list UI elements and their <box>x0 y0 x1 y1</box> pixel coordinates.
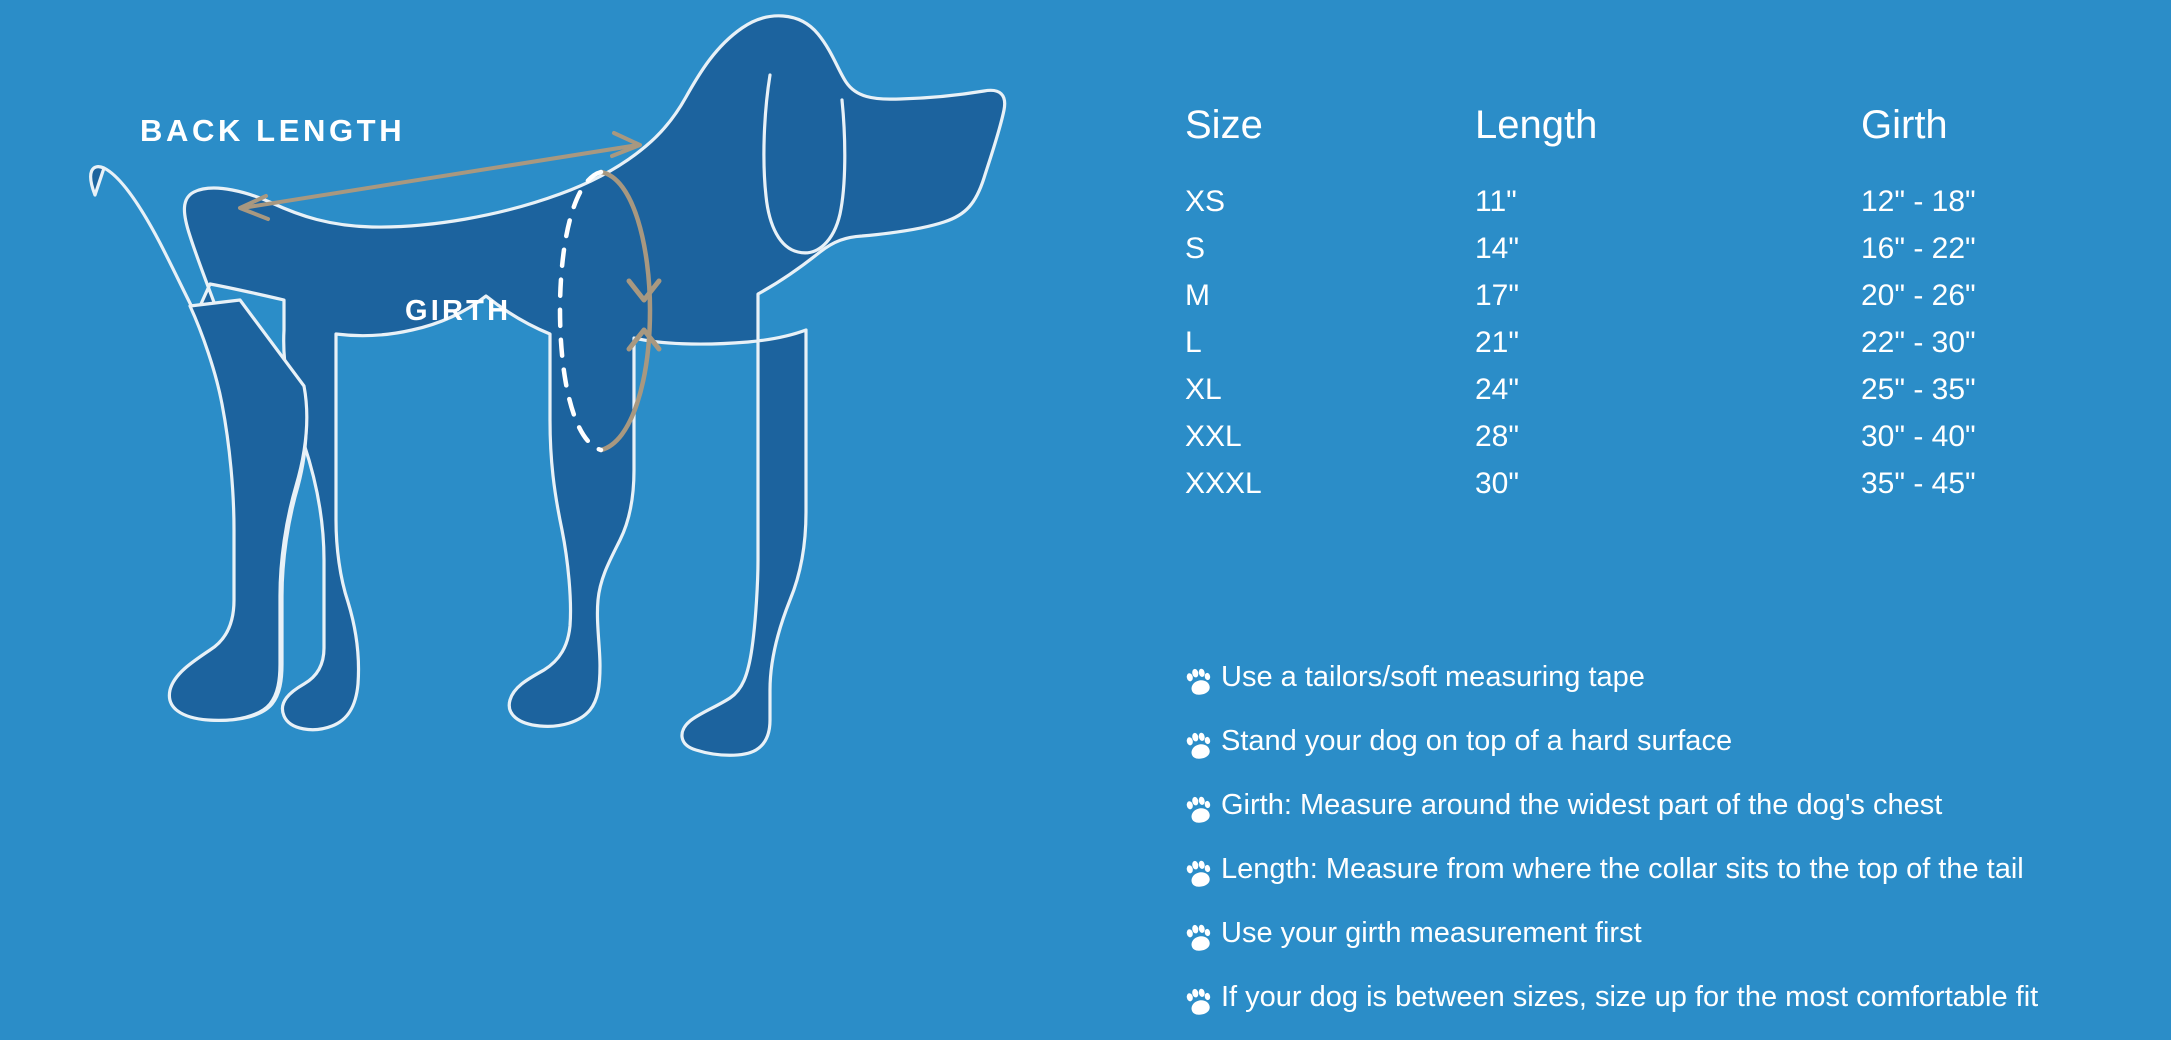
dog-silhouette-icon <box>0 0 1100 1040</box>
paw-print-icon <box>1185 732 1213 762</box>
cell-girth: 20" - 26" <box>1861 281 2121 328</box>
paw-print-icon <box>1185 924 1213 954</box>
column-header-length: Length <box>1475 105 1861 145</box>
list-item: Girth: Measure around the widest part of… <box>1185 788 2165 852</box>
tip-text: Length: Measure from where the collar si… <box>1221 852 2024 886</box>
column-header-girth: Girth <box>1861 105 2121 145</box>
paw-print-icon <box>1185 668 1213 698</box>
cell-girth: 25" - 35" <box>1861 375 2121 422</box>
table-row: XS 11" 12" - 18" <box>1185 187 2125 234</box>
cell-length: 14" <box>1475 234 1861 281</box>
paw-print-icon <box>1185 988 1213 1018</box>
list-item: Use your girth measurement first <box>1185 916 2165 980</box>
table-row: M 17" 20" - 26" <box>1185 281 2125 328</box>
cell-length: 11" <box>1475 187 1861 234</box>
cell-size: XS <box>1185 187 1475 234</box>
paw-print-icon <box>1185 796 1213 826</box>
table-row: XXXL 30" 35" - 45" <box>1185 469 2125 516</box>
table-header-row: Size Length Girth <box>1185 105 2125 145</box>
tip-text: Use a tailors/soft measuring tape <box>1221 660 1645 694</box>
table-row: XL 24" 25" - 35" <box>1185 375 2125 422</box>
list-item: Use a tailors/soft measuring tape <box>1185 660 2165 724</box>
tip-text: Girth: Measure around the widest part of… <box>1221 788 1942 822</box>
cell-size: M <box>1185 281 1475 328</box>
column-header-size: Size <box>1185 105 1475 145</box>
measuring-tips-list: Use a tailors/soft measuring tape Stand … <box>1185 660 2165 1040</box>
cell-girth: 16" - 22" <box>1861 234 2121 281</box>
dog-hind-leg <box>169 300 306 720</box>
cell-girth: 30" - 40" <box>1861 422 2121 469</box>
list-item: Stand your dog on top of a hard surface <box>1185 724 2165 788</box>
cell-size: XXXL <box>1185 469 1475 516</box>
dog-size-chart: BACK LENGTH GIRTH Size Length Girth XS 1… <box>0 0 2171 1040</box>
tip-text: If your dog is between sizes, size up fo… <box>1221 980 2038 1014</box>
size-table: Size Length Girth XS 11" 12" - 18" S 14"… <box>1185 105 2125 516</box>
table-row: L 21" 22" - 30" <box>1185 328 2125 375</box>
tip-text: Use your girth measurement first <box>1221 916 1642 950</box>
cell-size: S <box>1185 234 1475 281</box>
cell-length: 21" <box>1475 328 1861 375</box>
tip-text: Stand your dog on top of a hard surface <box>1221 724 1732 758</box>
cell-size: XXL <box>1185 422 1475 469</box>
cell-girth: 22" - 30" <box>1861 328 2121 375</box>
cell-length: 24" <box>1475 375 1861 422</box>
table-row: XXL 28" 30" - 40" <box>1185 422 2125 469</box>
cell-length: 17" <box>1475 281 1861 328</box>
cell-girth: 35" - 45" <box>1861 469 2121 516</box>
cell-size: L <box>1185 328 1475 375</box>
paw-print-icon <box>1185 860 1213 890</box>
list-item: Length: Measure from where the collar si… <box>1185 852 2165 916</box>
cell-girth: 12" - 18" <box>1861 187 2121 234</box>
cell-length: 28" <box>1475 422 1861 469</box>
list-item: If your dog is between sizes, size up fo… <box>1185 980 2165 1040</box>
cell-size: XL <box>1185 375 1475 422</box>
info-panel: Size Length Girth XS 11" 12" - 18" S 14"… <box>1100 0 2171 1040</box>
table-row: S 14" 16" - 22" <box>1185 234 2125 281</box>
dog-illustration-panel: BACK LENGTH GIRTH <box>0 0 1100 1040</box>
cell-length: 30" <box>1475 469 1861 516</box>
